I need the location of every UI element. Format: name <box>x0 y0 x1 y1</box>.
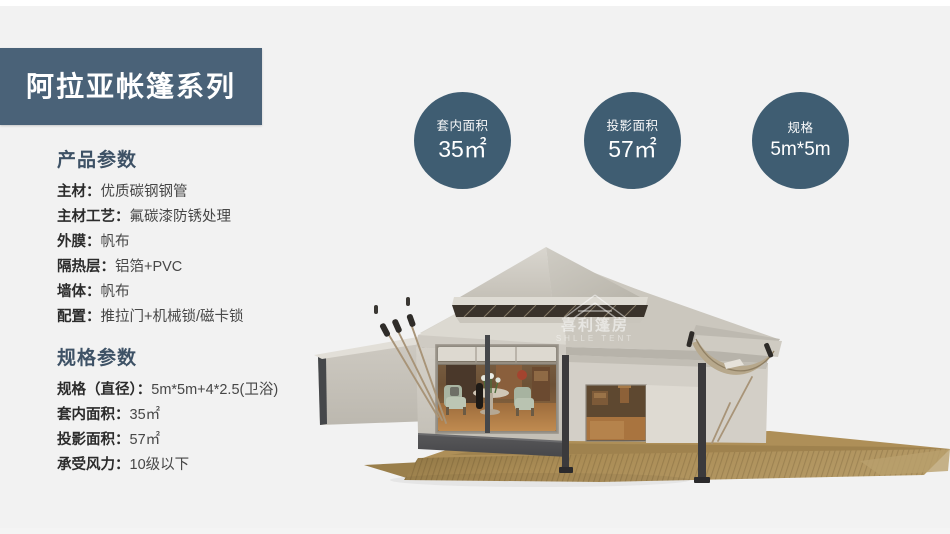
spec-section-heading: 规格参数 <box>57 348 330 371</box>
spec-row: 墙体：帆布 <box>57 280 330 305</box>
spec-value: 铝箔+PVC <box>115 259 182 275</box>
spec-key: 主材： <box>57 184 101 200</box>
spec-value: 5m*5m+4*2.5(卫浴) <box>151 382 278 398</box>
page-root: 阿拉亚帐篷系列 产品参数 主材：优质碳钢钢管 主材工艺：氟碳漆防锈处理 外膜：帆… <box>0 0 950 534</box>
spec-row: 隔热层：铝箔+PVC <box>57 255 330 280</box>
badge-value: 57㎡ <box>608 138 657 161</box>
tent-front-wall <box>416 345 570 441</box>
spec-row: 投影面积：57㎡ <box>57 428 330 453</box>
spec-key: 承受风力： <box>57 457 130 473</box>
spec-row: 规格（直径）：5m*5m+4*2.5(卫浴) <box>57 378 330 403</box>
badge-label: 规格 <box>787 122 813 135</box>
badge-dimensions: 规格 5m*5m <box>752 92 849 189</box>
badge-label: 投影面积 <box>606 120 658 133</box>
spec-row: 主材工艺：氟碳漆防锈处理 <box>57 205 330 230</box>
spec-value: 35㎡ <box>130 407 161 423</box>
badge-projected-area: 投影面积 57㎡ <box>584 92 681 189</box>
spec-value: 优质碳钢钢管 <box>101 184 188 200</box>
spec-key: 规格（直径）： <box>57 382 151 398</box>
badge-value: 35㎡ <box>438 138 487 161</box>
spec-key: 配置： <box>57 309 101 325</box>
tent-interior-scene <box>438 347 556 431</box>
spec-key: 外膜： <box>57 234 101 250</box>
badge-value: 5m*5m <box>770 140 830 159</box>
title-banner: 阿拉亚帐篷系列 <box>0 48 262 125</box>
top-white-strip <box>0 0 950 6</box>
spec-row: 外膜：帆布 <box>57 230 330 255</box>
spec-value: 氟碳漆防锈处理 <box>130 209 232 225</box>
tent-illustration <box>300 235 950 515</box>
spec-value: 帆布 <box>101 284 130 300</box>
rope-tensioners <box>374 297 416 338</box>
spec-value: 帆布 <box>101 234 130 250</box>
dimension-spec-list: 规格（直径）：5m*5m+4*2.5(卫浴) 套内面积：35㎡ 投影面积：57㎡… <box>0 378 330 478</box>
page-title: 阿拉亚帐篷系列 <box>26 73 236 101</box>
spec-row: 套内面积：35㎡ <box>57 403 330 428</box>
spec-key: 隔热层： <box>57 259 115 275</box>
bottom-strip <box>0 528 950 534</box>
spec-value: 推拉门+机械锁/磁卡锁 <box>101 309 244 325</box>
spec-row: 主材：优质碳钢钢管 <box>57 180 330 205</box>
spec-panel: 产品参数 主材：优质碳钢钢管 主材工艺：氟碳漆防锈处理 外膜：帆布 隔热层：铝箔… <box>0 150 330 478</box>
spec-row: 承受风力：10级以下 <box>57 453 330 478</box>
product-section-heading: 产品参数 <box>57 150 330 173</box>
product-spec-list: 主材：优质碳钢钢管 主材工艺：氟碳漆防锈处理 外膜：帆布 隔热层：铝箔+PVC … <box>0 180 330 330</box>
spec-value: 57㎡ <box>130 432 161 448</box>
spec-key: 墙体： <box>57 284 101 300</box>
badge-interior-area: 套内面积 35㎡ <box>414 92 511 189</box>
badge-label: 套内面积 <box>436 120 488 133</box>
spec-row: 配置：推拉门+机械锁/磁卡锁 <box>57 305 330 330</box>
spec-key: 主材工艺： <box>57 209 130 225</box>
spec-value: 10级以下 <box>130 457 190 473</box>
spec-key: 投影面积： <box>57 432 130 448</box>
spec-key: 套内面积： <box>57 407 130 423</box>
